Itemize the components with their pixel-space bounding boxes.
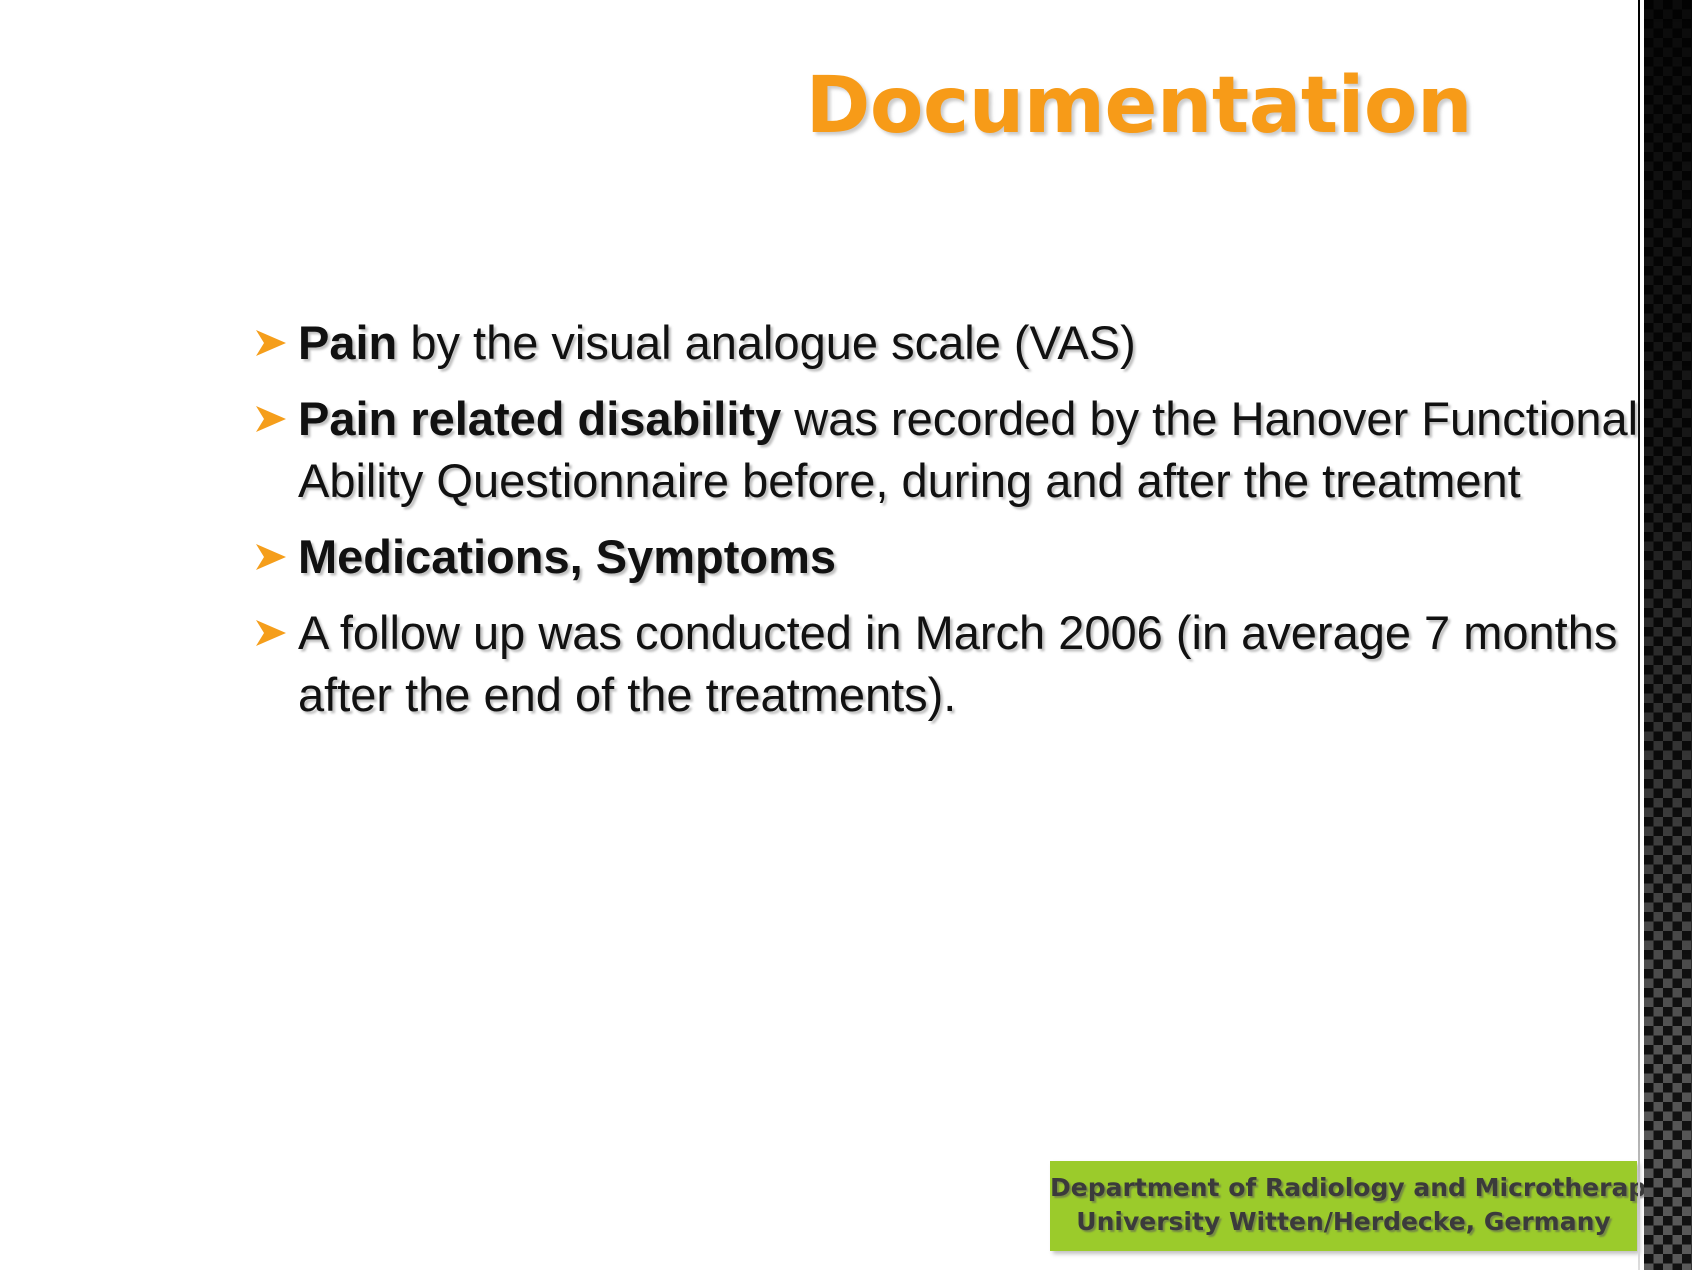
arrow-bullet-icon xyxy=(252,604,294,664)
decorative-right-edge xyxy=(1636,0,1692,1270)
footer-line-1: Department of Radiology and Microtherapy xyxy=(1050,1171,1637,1205)
edge-weave-gradient xyxy=(1644,0,1692,1270)
list-item-bold-lead: Medications, Symptoms xyxy=(298,530,836,583)
arrow-bullet-icon xyxy=(252,528,294,588)
footer-affiliation-badge: Department of Radiology and Microtherapy… xyxy=(1050,1161,1637,1251)
edge-hairline xyxy=(1638,0,1640,1270)
list-item: A follow up was conducted in March 2006 … xyxy=(252,602,1642,726)
list-item: Medications, Symptoms xyxy=(252,526,1642,588)
arrow-bullet-icon xyxy=(252,390,294,450)
list-item: Pain related disability was recorded by … xyxy=(252,388,1642,512)
list-item: Pain by the visual analogue scale (VAS) xyxy=(252,312,1642,374)
list-item-text: by the visual analogue scale (VAS) xyxy=(397,316,1135,369)
slide-canvas: Documentation Pain by the visual analogu… xyxy=(0,0,1692,1270)
arrow-bullet-icon xyxy=(252,314,294,374)
list-item-text: A follow up was conducted in March 2006 … xyxy=(298,606,1617,721)
bullet-list: Pain by the visual analogue scale (VAS) … xyxy=(252,312,1642,832)
list-item-bold-lead: Pain xyxy=(298,316,397,369)
page-title: Documentation xyxy=(0,66,1472,148)
footer-line-2: University Witten/Herdecke, Germany xyxy=(1050,1205,1637,1239)
list-item-bold-lead: Pain related disability xyxy=(298,392,781,445)
